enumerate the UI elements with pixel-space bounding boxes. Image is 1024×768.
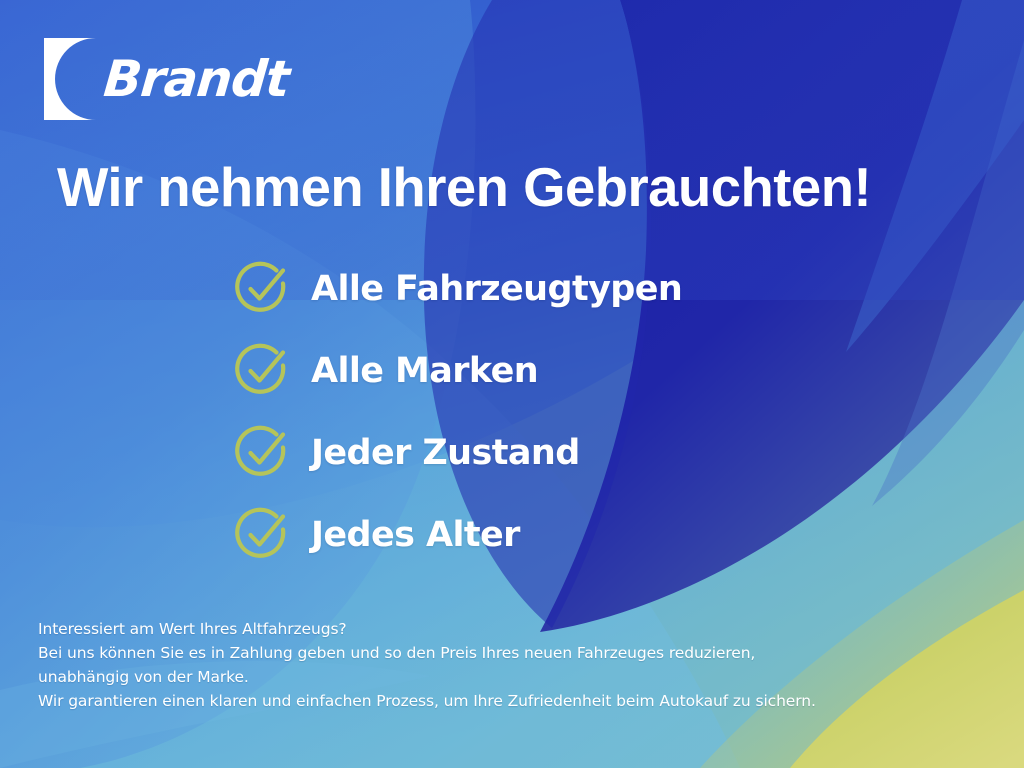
body-paragraph: Interessiert am Wert Ihres Altfahrzeugs?…	[38, 617, 938, 713]
body-line: unabhängig von der Marke.	[38, 665, 938, 689]
feature-item: Jeder Zustand	[232, 422, 682, 484]
body-line: Interessiert am Wert Ihres Altfahrzeugs?	[38, 617, 938, 641]
feature-item: Alle Marken	[232, 340, 682, 402]
content-layer: Brandt Wir nehmen Ihren Gebrauchten! All…	[0, 0, 1024, 768]
brand-name: Brandt	[102, 54, 291, 104]
body-line: Bei uns können Sie es in Zahlung geben u…	[38, 641, 938, 665]
feature-label: Alle Marken	[311, 354, 538, 389]
body-line: Wir garantieren einen klaren und einfach…	[38, 689, 938, 713]
brandt-logo-mark-icon	[44, 38, 98, 120]
feature-item: Alle Fahrzeugtypen	[232, 258, 682, 320]
feature-item: Jedes Alter	[232, 504, 682, 566]
feature-label: Jeder Zustand	[311, 436, 580, 471]
promo-banner: Brandt Wir nehmen Ihren Gebrauchten! All…	[0, 0, 1024, 768]
check-circle-icon	[232, 504, 294, 566]
check-circle-icon	[232, 422, 294, 484]
brand-logo: Brandt	[44, 38, 289, 120]
feature-list: Alle Fahrzeugtypen Alle Marken Jeder Zus…	[232, 258, 682, 566]
check-circle-icon	[232, 258, 294, 320]
check-circle-icon	[232, 340, 294, 402]
page-title: Wir nehmen Ihren Gebrauchten!	[57, 158, 871, 217]
feature-label: Jedes Alter	[311, 518, 520, 553]
feature-label: Alle Fahrzeugtypen	[311, 272, 682, 307]
